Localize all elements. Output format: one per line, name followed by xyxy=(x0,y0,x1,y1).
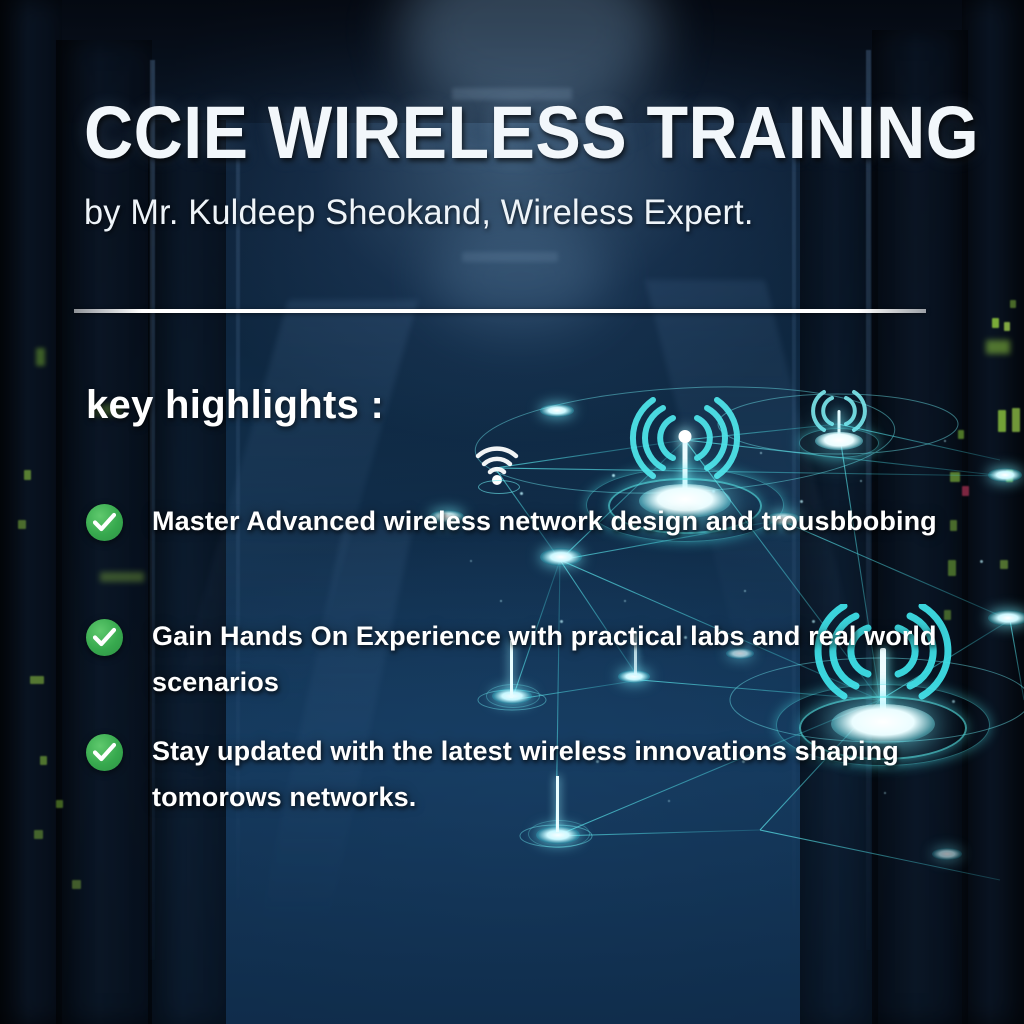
ceiling-light-glow xyxy=(430,222,610,332)
rack-led xyxy=(986,340,1010,354)
rack-led xyxy=(1006,470,1013,482)
rack-led xyxy=(18,520,26,529)
rack-led-alert xyxy=(962,486,969,496)
page-subtitle: by Mr. Kuldeep Sheokand, Wireless Expert… xyxy=(84,193,966,233)
section-heading: key highlights : xyxy=(86,383,384,428)
rack-led xyxy=(36,348,45,366)
rack-led xyxy=(1012,408,1020,432)
list-item-label: Master Advanced wireless network design … xyxy=(152,498,966,544)
rack-led xyxy=(34,830,43,839)
rack-led xyxy=(24,470,31,480)
rack-led xyxy=(1010,300,1016,308)
rack-led xyxy=(56,800,63,808)
rack-led xyxy=(992,318,999,328)
highlights-list: Master Advanced wireless network design … xyxy=(86,498,966,824)
rack-led xyxy=(1004,322,1010,331)
rack-led xyxy=(1000,560,1008,569)
check-icon xyxy=(86,504,123,541)
list-item: Stay updated with the latest wireless in… xyxy=(86,728,966,824)
check-icon xyxy=(86,619,123,656)
list-item: Master Advanced wireless network design … xyxy=(86,498,966,594)
rack-led xyxy=(958,430,964,439)
rack-led xyxy=(30,676,44,684)
header-divider xyxy=(74,309,926,313)
rack-led xyxy=(72,880,81,889)
list-item-label: Stay updated with the latest wireless in… xyxy=(152,728,966,820)
page-title: CCIE WIRELESS TRAINING xyxy=(84,96,884,170)
check-icon xyxy=(86,734,123,771)
rack-led xyxy=(40,756,47,765)
list-item: Gain Hands On Experience with practical … xyxy=(86,613,966,709)
rack-led xyxy=(950,472,960,482)
list-item-label: Gain Hands On Experience with practical … xyxy=(152,613,966,705)
server-rack-left-outer xyxy=(0,0,62,1024)
rack-led xyxy=(998,410,1006,432)
poster-canvas: CCIE WIRELESS TRAINING by Mr. Kuldeep Sh… xyxy=(0,0,1024,1024)
